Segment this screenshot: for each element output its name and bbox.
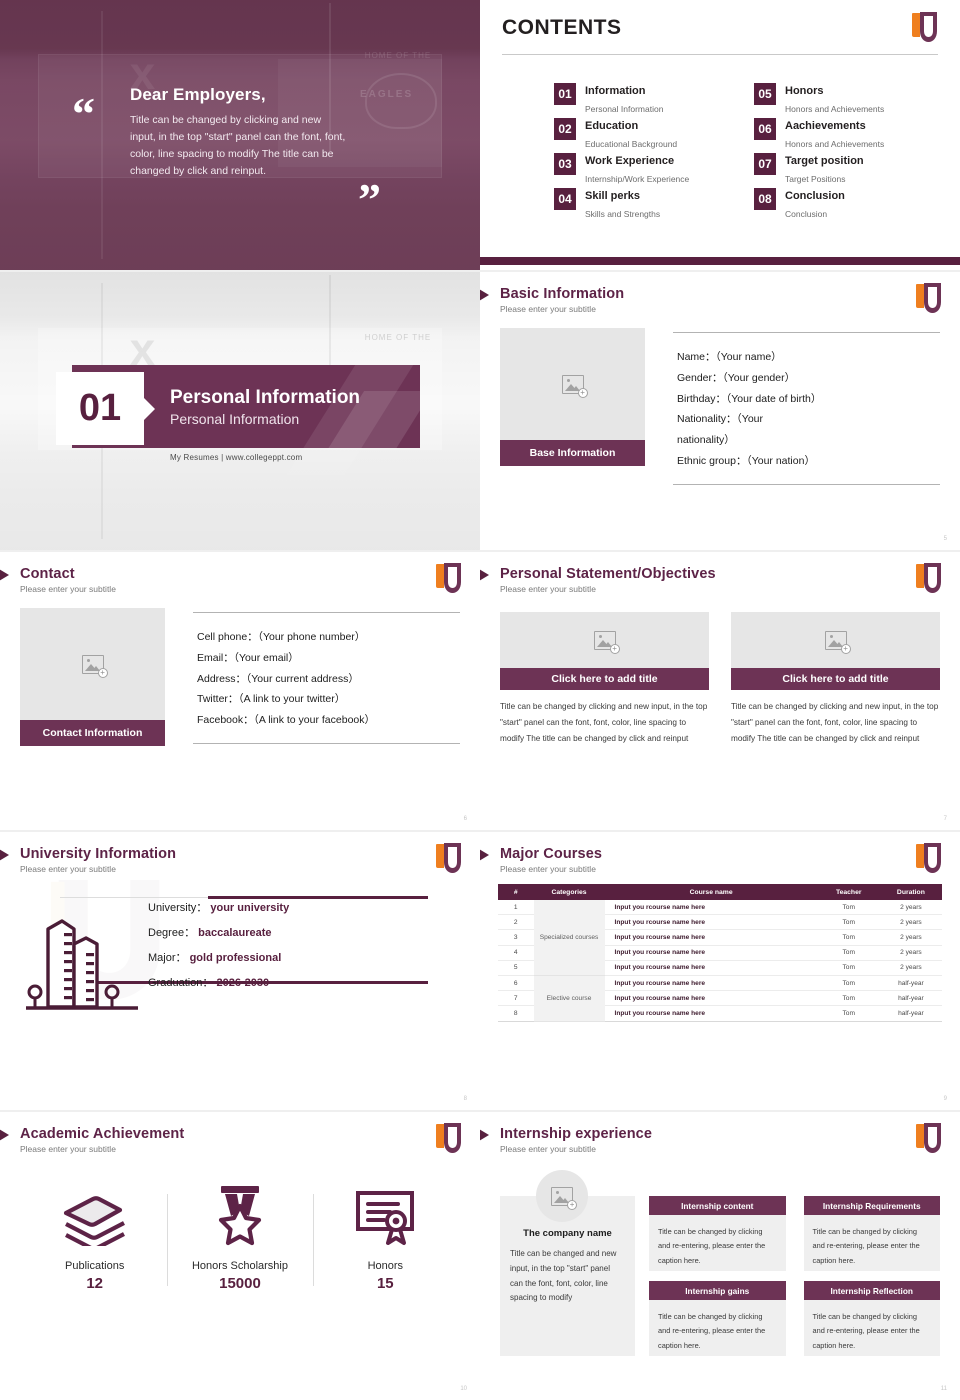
cover-slide: x HOME OF THE EAGLES “ Dear Employers, T… [0, 0, 480, 270]
field-bottom-rule [673, 484, 940, 485]
card-title: Internship Reflection [804, 1281, 941, 1300]
slide-header: Contact Please enter your subtitle [0, 552, 480, 594]
page-title: Personal Statement/Objectives [500, 566, 940, 582]
contents-number: 05 [754, 83, 776, 105]
table-row[interactable]: 6Elective courseInput you rcourse name h… [498, 975, 942, 990]
cell-index: 3 [498, 930, 534, 945]
statement-card[interactable]: + Click here to add title Title can be c… [731, 612, 940, 747]
cell-course: Input you rcourse name here [605, 975, 818, 990]
statement-card[interactable]: + Click here to add title Title can be c… [500, 612, 709, 747]
field-value: your university [210, 902, 289, 914]
card-title: Internship content [649, 1196, 786, 1215]
card-title: Internship gains [649, 1281, 786, 1300]
card-title: Internship Requirements [804, 1196, 941, 1215]
card-body: Title can be changed by clicking and re-… [804, 1300, 941, 1356]
contents-number: 01 [554, 83, 576, 105]
internship-card[interactable]: Internship Reflection Title can be chang… [804, 1281, 941, 1356]
university-body: University： your university Degree： bacc… [0, 874, 480, 1089]
university-field-list: University： your university Degree： bacc… [148, 896, 289, 996]
contents-item-title: Aachievements [785, 120, 866, 132]
field-row: Nationality：（Your [677, 409, 936, 430]
col-duration: Duration [880, 884, 942, 900]
stat-item: Honors Scholarship 15000 [167, 1184, 312, 1292]
page-title: Basic Information [500, 286, 940, 302]
card-body: Title can be changed by clicking and new… [731, 699, 940, 747]
field-row: Cell phone：（Your phone number） [197, 627, 456, 648]
col-categories: Categories [534, 884, 605, 900]
eagle-crest-icon [365, 73, 437, 129]
arrow-marker-icon [0, 1126, 9, 1144]
info-body: + Base Information Name：（Your name） Gend… [480, 314, 960, 485]
card-title[interactable]: Click here to add title [500, 668, 709, 690]
contents-item-title: Information [585, 85, 646, 97]
arrow-marker-icon [0, 846, 9, 864]
page-number: 7 [944, 816, 947, 822]
add-image-icon: + [562, 375, 584, 394]
courses-table-wrap: # Categories Course name Teacher Duratio… [480, 874, 960, 1022]
field-row: Email：（Your email） [197, 648, 456, 669]
page-number: 6 [464, 816, 467, 822]
contact-slide: Contact Please enter your subtitle + Con… [0, 552, 480, 830]
page-subtitle: Please enter your subtitle [500, 304, 940, 314]
medal-icon [167, 1184, 312, 1246]
page-title: University Information [20, 846, 460, 862]
cell-course: Input you rcourse name here [605, 945, 818, 960]
cell-duration: 2 years [880, 930, 942, 945]
field-row: Twitter：（A link to your twitter） [197, 689, 456, 710]
cell-duration: 2 years [880, 915, 942, 930]
stat-value: 12 [22, 1275, 167, 1292]
slide-header: Basic Information Please enter your subt… [480, 272, 960, 314]
contents-item[interactable]: 02EducationEducational Background [554, 116, 738, 151]
cell-course: Input you rcourse name here [605, 1006, 818, 1021]
page-number: 9 [944, 1096, 947, 1102]
field-row: Birthday：（Your date of birth） [677, 389, 936, 410]
stat-label: Publications [22, 1260, 167, 1272]
cell-category: Elective course [534, 975, 605, 1021]
field-label: University： [148, 902, 207, 914]
internship-cards: Internship content Title can be changed … [649, 1196, 940, 1356]
section-number: 01 [56, 372, 144, 445]
cell-duration: 2 years [880, 945, 942, 960]
cell-index: 1 [498, 900, 534, 915]
courses-table: # Categories Course name Teacher Duratio… [498, 884, 942, 1022]
arrow-marker-icon [480, 566, 489, 584]
cell-course: Input you rcourse name here [605, 930, 818, 945]
photo-caption: Base Information [500, 440, 645, 466]
company-logo-placeholder[interactable]: + [536, 1170, 588, 1222]
page-subtitle: Please enter your subtitle [20, 864, 460, 874]
contents-number: 02 [554, 118, 576, 140]
contents-item[interactable]: 07Target positionTarget Positions [754, 151, 938, 186]
academic-achievement-slide: Academic Achievement Please enter your s… [0, 1112, 480, 1400]
cell-index: 6 [498, 975, 534, 990]
photo-eagles-text: EAGLES [360, 89, 413, 100]
photo-box[interactable]: + [731, 612, 940, 668]
company-name: The company name [510, 1228, 625, 1239]
section-subtitle: Personal Information [170, 411, 299, 427]
cover-body: Title can be changed by clicking and new… [130, 112, 346, 180]
photo-home-text: HOME OF THE [365, 51, 431, 60]
cell-teacher: Tom [818, 915, 880, 930]
section-number-text: 01 [79, 387, 121, 430]
photo-placeholder[interactable]: + Base Information [500, 328, 645, 485]
cell-index: 8 [498, 1006, 534, 1021]
page-number: 10 [460, 1386, 467, 1392]
field-bottom-rule [193, 743, 460, 744]
contents-item-title: Work Experience [585, 155, 674, 167]
brand-logo-icon [436, 1123, 462, 1153]
statement-cards: + Click here to add title Title can be c… [480, 594, 960, 747]
page-subtitle: Please enter your subtitle [500, 864, 940, 874]
table-header-row: # Categories Course name Teacher Duratio… [498, 884, 942, 900]
page-number: 11 [941, 1386, 947, 1392]
personal-statement-slide: Personal Statement/Objectives Please ent… [480, 552, 960, 830]
internship-experience-slide: Internship experience Please enter your … [480, 1112, 960, 1400]
slide-header: Major Courses Please enter your subtitle [480, 832, 960, 874]
brand-logo-icon [916, 283, 942, 313]
field-row: Address：（Your current address） [197, 669, 456, 690]
brand-logo-icon [916, 563, 942, 593]
brand-logo-icon [436, 563, 462, 593]
stat-value: 15 [313, 1275, 458, 1292]
internship-body: + The company name Title can be changed … [480, 1154, 960, 1356]
cover-text-block: Dear Employers, Title can be changed by … [130, 85, 346, 180]
photo-home-text: HOME OF THE [365, 333, 431, 342]
field-value: gold professional [190, 952, 282, 964]
arrow-marker-icon [480, 846, 489, 864]
slide-deck: x HOME OF THE EAGLES “ Dear Employers, T… [0, 0, 960, 1400]
arrow-marker-icon [0, 566, 9, 584]
page-title: CONTENTS [502, 16, 938, 40]
cell-teacher: Tom [818, 975, 880, 990]
brand-logo-icon [912, 12, 938, 42]
contents-number: 06 [754, 118, 776, 140]
contents-item[interactable]: 05HonorsHonors and Achievements [754, 81, 938, 116]
contents-number: 08 [754, 188, 776, 210]
cell-course: Input you rcourse name here [605, 991, 818, 1006]
brand-logo-icon [916, 1123, 942, 1153]
field-row: Gender：（Your gender） [677, 368, 936, 389]
contents-number: 03 [554, 153, 576, 175]
section-number-arrow-icon [144, 398, 155, 420]
title-divider [502, 54, 938, 55]
internship-card[interactable]: Internship content Title can be changed … [649, 1196, 786, 1271]
cell-category: Specialized courses [534, 900, 605, 975]
contents-item-title: Conclusion [785, 190, 845, 202]
arrow-marker-icon [480, 1126, 489, 1144]
section-title: Personal Information [170, 387, 360, 409]
photo-box[interactable]: + [500, 612, 709, 668]
brand-logo-icon [916, 843, 942, 873]
contents-list: 01InformationPersonal Information 05Hono… [502, 81, 938, 221]
contents-item-sub: Honors and Achievements [785, 104, 884, 114]
contents-item[interactable]: 01InformationPersonal Information [554, 81, 738, 116]
books-icon [22, 1184, 167, 1246]
achievement-stats: Publications 12 Honors Scholarship 15000 [0, 1154, 480, 1292]
page-title: Contact [20, 566, 460, 582]
contents-item-sub: Target Positions [785, 174, 845, 184]
stat-value: 15000 [167, 1275, 312, 1292]
cell-index: 5 [498, 960, 534, 975]
cell-duration: half-year [880, 975, 942, 990]
cell-teacher: Tom [818, 1006, 880, 1021]
info-body: + Contact Information Cell phone：（Your p… [0, 594, 480, 746]
page-number: 8 [464, 1096, 467, 1102]
contents-item[interactable]: 08ConclusionConclusion [754, 186, 938, 221]
contents-item-sub: Conclusion [785, 209, 827, 219]
contents-item-title: Honors [785, 85, 824, 97]
field-row: Graduation： 2026-2030 [148, 971, 289, 996]
cell-teacher: Tom [818, 991, 880, 1006]
cell-course: Input you rcourse name here [605, 900, 818, 915]
cell-duration: half-year [880, 991, 942, 1006]
field-list: Cell phone：（Your phone number） Email：（Yo… [193, 608, 460, 746]
card-body: Title can be changed by clicking and re-… [804, 1215, 941, 1271]
field-value: 2026-2030 [217, 977, 270, 989]
page-number: 5 [944, 536, 947, 542]
company-panel: + The company name Title can be changed … [500, 1196, 635, 1356]
photo-box[interactable]: + [20, 608, 165, 720]
field-list: Name：（Your name） Gender：（Your gender） Bi… [673, 328, 940, 485]
slide-header: Personal Statement/Objectives Please ent… [480, 552, 960, 594]
page-title: Major Courses [500, 846, 940, 862]
arrow-marker-icon [480, 286, 489, 304]
contents-item-title: Skill perks [585, 190, 640, 202]
page-subtitle: Please enter your subtitle [20, 1144, 460, 1154]
card-body: Title can be changed by clicking and re-… [649, 1215, 786, 1271]
internship-card[interactable]: Internship Requirements Title can be cha… [804, 1196, 941, 1271]
stat-item: Honors 15 [313, 1184, 458, 1292]
contents-item[interactable]: 06AachievementsHonors and Achievements [754, 116, 938, 151]
quote-open-icon: “ [72, 100, 95, 128]
internship-card[interactable]: Internship gains Title can be changed by… [649, 1281, 786, 1356]
contents-number: 04 [554, 188, 576, 210]
add-image-icon: + [82, 655, 104, 674]
contents-item-title: Education [585, 120, 638, 132]
company-body: Title can be changed and new input, in t… [510, 1247, 625, 1306]
photo-box[interactable]: + [500, 328, 645, 440]
major-courses-slide: Major Courses Please enter your subtitle… [480, 832, 960, 1110]
page-subtitle: Please enter your subtitle [20, 584, 460, 594]
field-row: Facebook：（A link to your facebook） [197, 710, 456, 731]
contents-item-sub: Personal Information [585, 104, 663, 114]
field-row: Major： gold professional [148, 946, 289, 971]
card-title[interactable]: Click here to add title [731, 668, 940, 690]
brand-logo-icon [436, 843, 462, 873]
photo-caption: Contact Information [20, 720, 165, 746]
cell-teacher: Tom [818, 930, 880, 945]
col-course: Course name [605, 884, 818, 900]
page-title: Academic Achievement [20, 1126, 460, 1142]
cover-heading: Dear Employers, [130, 85, 346, 105]
col-index: # [498, 884, 534, 900]
contents-item-title: Target position [785, 155, 864, 167]
cell-duration: 2 years [880, 900, 942, 915]
add-image-icon: + [825, 631, 847, 650]
cell-teacher: Tom [818, 900, 880, 915]
cell-index: 7 [498, 991, 534, 1006]
basic-information-slide: Basic Information Please enter your subt… [480, 272, 960, 550]
cell-course: Input you rcourse name here [605, 960, 818, 975]
table-row[interactable]: 1Specialized coursesInput you rcourse na… [498, 900, 942, 915]
section-footer: My Resumes | www.collegeppt.com [170, 453, 302, 462]
field-row: Degree： baccalaureate [148, 921, 289, 946]
slide-header: University Information Please enter your… [0, 832, 480, 874]
cell-duration: half-year [880, 1006, 942, 1021]
contents-slide: CONTENTS 01InformationPersonal Informati… [480, 0, 960, 270]
field-row: University： your university [148, 896, 289, 921]
stat-label: Honors Scholarship [167, 1260, 312, 1272]
field-value: baccalaureate [198, 927, 271, 939]
slide-header: Academic Achievement Please enter your s… [0, 1112, 480, 1154]
field-row: nationality） [677, 430, 936, 451]
flagpole-left [101, 11, 103, 259]
contents-item-sub: Internship/Work Experience [585, 174, 689, 184]
certificate-icon [313, 1184, 458, 1246]
university-information-slide: University Information Please enter your… [0, 832, 480, 1110]
contents-number: 07 [754, 153, 776, 175]
contents-item-sub: Skills and Strengths [585, 209, 660, 219]
card-body: Title can be changed by clicking and re-… [649, 1300, 786, 1356]
stat-item: Publications 12 [22, 1184, 167, 1292]
cell-index: 4 [498, 945, 534, 960]
page-subtitle: Please enter your subtitle [500, 1144, 940, 1154]
cell-teacher: Tom [818, 945, 880, 960]
footer-bar [480, 257, 960, 265]
page-title: Internship experience [500, 1126, 940, 1142]
field-row: Name：（Your name） [677, 347, 936, 368]
add-image-icon: + [551, 1187, 573, 1206]
stat-label: Honors [313, 1260, 458, 1272]
field-row: Ethnic group：（Your nation） [677, 451, 936, 472]
field-label: Major： [148, 952, 187, 964]
contents-item-sub: Educational Background [585, 139, 677, 149]
cell-duration: 2 years [880, 960, 942, 975]
cell-teacher: Tom [818, 960, 880, 975]
field-label: Degree： [148, 927, 195, 939]
contents-item[interactable]: 03Work ExperienceInternship/Work Experie… [554, 151, 738, 186]
field-label: Graduation： [148, 977, 213, 989]
cell-index: 2 [498, 915, 534, 930]
page-subtitle: Please enter your subtitle [500, 584, 940, 594]
card-body: Title can be changed by clicking and new… [500, 699, 709, 747]
add-image-icon: + [594, 631, 616, 650]
photo-placeholder[interactable]: + Contact Information [20, 608, 165, 746]
buildings-icon [18, 898, 146, 1016]
contents-item[interactable]: 04Skill perksSkills and Strengths [554, 186, 738, 221]
section-divider-slide: x HOME OF THE 01 Personal Information Pe… [0, 272, 480, 550]
col-teacher: Teacher [818, 884, 880, 900]
contents-item-sub: Honors and Achievements [785, 139, 884, 149]
cell-course: Input you rcourse name here [605, 915, 818, 930]
slide-header: Internship experience Please enter your … [480, 1112, 960, 1154]
quote-close-icon: ” [358, 186, 381, 214]
